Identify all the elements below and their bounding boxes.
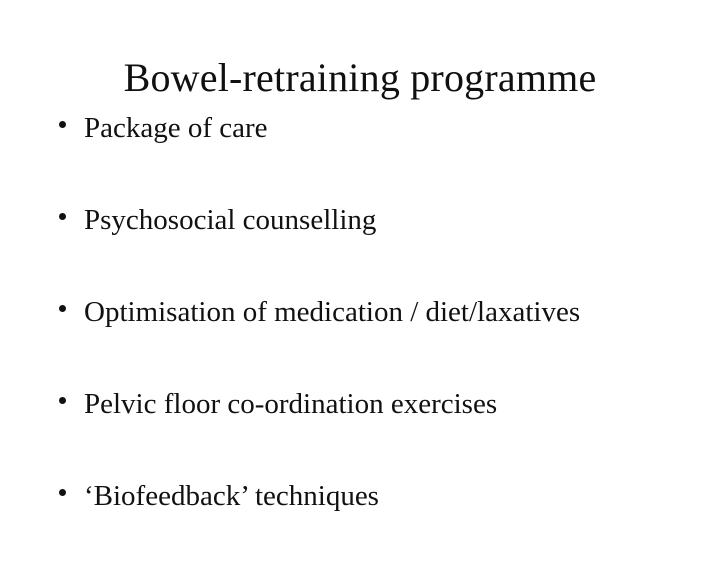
list-item: Optimisation of medication / diet/laxati… [56, 291, 706, 383]
list-item: ‘Biofeedback’ techniques [56, 475, 706, 567]
list-item-label: Pelvic floor co-ordination exercises [84, 383, 497, 425]
list-item-label: Package of care [84, 107, 268, 149]
presentation-slide: Bowel-retraining programme Package of ca… [0, 0, 720, 539]
round-bullet-icon [59, 213, 66, 220]
list-item-label: Psychosocial counselling [84, 199, 376, 241]
bullet-list: Package of care Psychosocial counselling… [56, 107, 706, 567]
round-bullet-icon [59, 489, 66, 496]
round-bullet-icon [59, 397, 66, 404]
list-item-label: ‘Biofeedback’ techniques [84, 475, 379, 517]
list-item: Package of care [56, 107, 706, 199]
list-item: Pelvic floor co-ordination exercises [56, 383, 706, 475]
list-item: Psychosocial counselling [56, 199, 706, 291]
list-item-label: Optimisation of medication / diet/laxati… [84, 291, 580, 333]
round-bullet-icon [59, 305, 66, 312]
page-title: Bowel-retraining programme [0, 53, 720, 103]
round-bullet-icon [59, 121, 66, 128]
